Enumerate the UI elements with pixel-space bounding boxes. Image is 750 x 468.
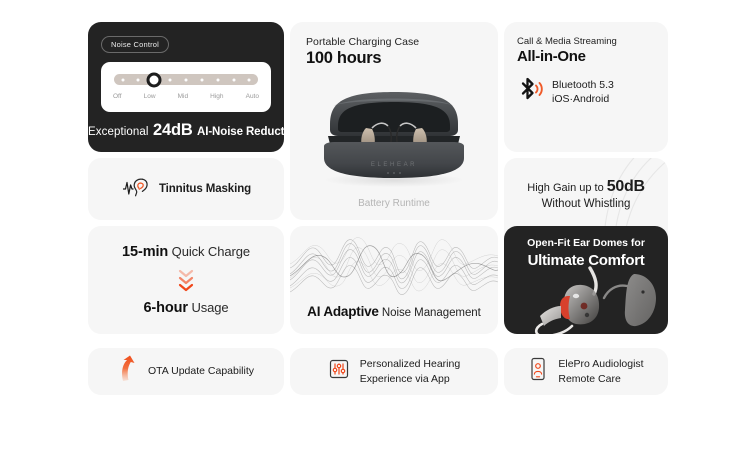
card-tinnitus-masking: Tinnitus Masking xyxy=(88,158,284,220)
noise-slider-track[interactable] xyxy=(114,74,258,85)
card-elepro-remote-care: ElePro Audiologist Remote Care xyxy=(504,348,668,395)
tinnitus-label: Tinnitus Masking xyxy=(159,183,251,195)
phone-person-icon xyxy=(528,356,548,387)
bluetooth-value: All-in-One xyxy=(517,48,668,65)
ear-waveform-icon xyxy=(121,175,151,204)
bluetooth-icon xyxy=(517,75,543,110)
slider-dot xyxy=(216,78,219,81)
slider-tick-auto[interactable]: Auto xyxy=(246,93,259,100)
noise-control-pill: Noise Control xyxy=(101,36,169,53)
gain-line-1: High Gain up to 50dB xyxy=(504,178,668,196)
usage-label: Usage xyxy=(188,300,229,315)
quick-charge-line: 15-min Quick Charge xyxy=(122,244,250,260)
case-caption: Battery Runtime xyxy=(290,198,498,209)
bluetooth-specs: Bluetooth 5.3 iOS·Android xyxy=(552,79,614,107)
gain-line-2: Without Whistling xyxy=(504,198,668,210)
case-value: 100 hours xyxy=(306,49,498,68)
feature-grid-page: Noise Control Off Low Mid xyxy=(0,0,750,468)
equalizer-sliders-icon xyxy=(328,357,350,386)
personalized-line-1: Personalized Hearing xyxy=(360,357,460,371)
gain-prefix: High Gain up to xyxy=(527,182,607,194)
noise-slider-ticks: Off Low Mid High Auto xyxy=(112,93,260,100)
noise-slider[interactable]: Off Low Mid High Auto xyxy=(101,62,271,112)
noise-caption-value: 24dB xyxy=(153,121,193,139)
card-charging-case: Portable Charging Case 100 hours xyxy=(290,22,498,220)
card-ota-update: OTA Update Capability xyxy=(88,348,284,395)
card-quick-charge: 15-min Quick Charge 6-hour Usage xyxy=(88,226,284,334)
slider-dot xyxy=(185,78,188,81)
layered-waveform-graphic xyxy=(290,230,498,302)
card-personalized-hearing: Personalized Hearing Experience via App xyxy=(290,348,498,395)
case-title: Portable Charging Case xyxy=(306,36,498,48)
comfort-line-1: Open-Fit Ear Domes for xyxy=(504,237,668,249)
usage-time: 6-hour xyxy=(143,300,188,316)
slider-dot xyxy=(248,78,251,81)
personalized-line-2: Experience via App xyxy=(360,372,460,386)
noise-slider-knob[interactable] xyxy=(147,72,162,87)
bluetooth-title: Call & Media Streaming xyxy=(517,36,668,47)
card-ai-adaptive: AI Adaptive Noise Management xyxy=(290,226,498,334)
ota-label: OTA Update Capability xyxy=(148,364,254,378)
gain-value: 50dB xyxy=(607,178,645,195)
ai-subtitle: Noise Management xyxy=(379,307,481,319)
slider-dot xyxy=(232,78,235,81)
ai-title: AI Adaptive xyxy=(307,304,379,319)
charging-case-image: ELEHEAR xyxy=(302,82,486,187)
slider-dot xyxy=(169,78,172,81)
quick-charge-time: 15-min xyxy=(122,244,168,260)
slider-tick-off[interactable]: Off xyxy=(113,93,122,100)
slider-tick-high[interactable]: High xyxy=(210,93,223,100)
feature-grid: Noise Control Off Low Mid xyxy=(88,22,662,397)
personalized-hearing-label: Personalized Hearing Experience via App xyxy=(360,357,460,385)
slider-dot xyxy=(137,78,140,81)
elepro-line-2: Remote Care xyxy=(558,372,643,386)
slider-dot xyxy=(200,78,203,81)
slider-tick-low[interactable]: Low xyxy=(144,93,156,100)
card-bluetooth: Call & Media Streaming All-in-One Blueto… xyxy=(504,22,668,152)
bluetooth-platforms: iOS·Android xyxy=(552,93,614,107)
noise-caption: Exceptional 24dB AI-Noise Reduction xyxy=(88,121,284,140)
noise-caption-prefix: Exceptional xyxy=(88,126,149,138)
triple-chevron-down-icon xyxy=(176,267,196,293)
noise-caption-suffix: AI-Noise Reduction xyxy=(197,126,284,138)
bottom-feature-row: OTA Update Capability Personalized Heari… xyxy=(88,348,662,395)
elepro-line-1: ElePro Audiologist xyxy=(558,357,643,371)
ai-caption: AI Adaptive Noise Management xyxy=(290,303,498,321)
slider-tick-mid[interactable]: Mid xyxy=(178,93,188,100)
bluetooth-version: Bluetooth 5.3 xyxy=(552,79,614,93)
slider-dot xyxy=(121,78,124,81)
elepro-label: ElePro Audiologist Remote Care xyxy=(558,357,643,385)
usage-line: 6-hour Usage xyxy=(143,300,228,316)
card-noise-control: Noise Control Off Low Mid xyxy=(88,22,284,152)
case-brand: ELEHEAR xyxy=(371,162,417,168)
upward-arrow-icon xyxy=(118,355,138,388)
ear-dome-product-photo xyxy=(504,266,668,334)
quick-charge-label: Quick Charge xyxy=(168,244,250,259)
card-ultimate-comfort: Open-Fit Ear Domes for Ultimate Comfort xyxy=(504,226,668,334)
